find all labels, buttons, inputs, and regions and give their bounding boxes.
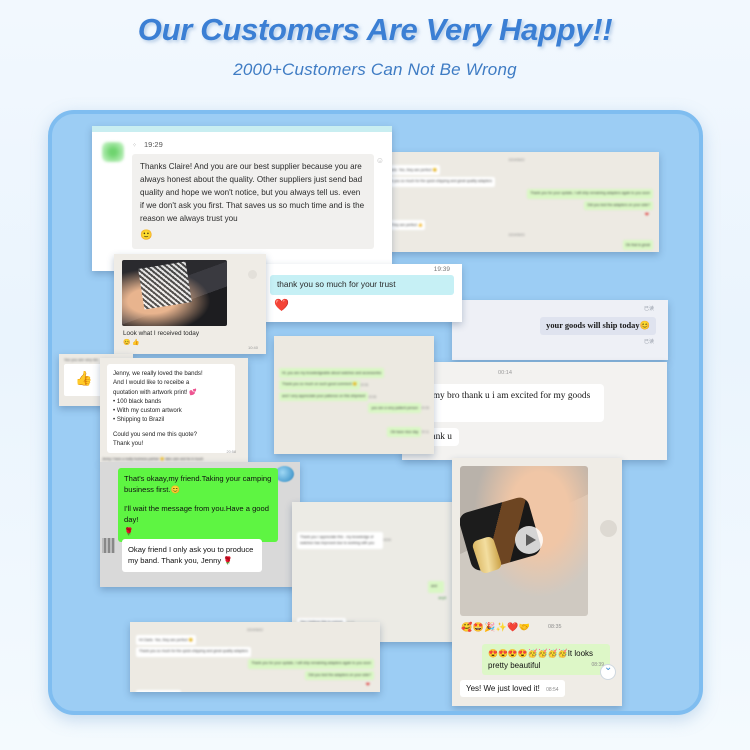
timestamp: 19:39	[434, 266, 450, 273]
page-title: Our Customers Are Very Happy!!	[0, 12, 750, 48]
blurred-name-placeholder: ⁘	[132, 142, 137, 149]
chat-line: Thank you for your update, I will ship r…	[527, 189, 653, 199]
testimonial-text: Thanks Claire! And you are our best supp…	[140, 162, 364, 223]
thumbs-up-label: Yes you are very kin	[64, 358, 98, 362]
beautiful-text: 😍😍😍😍🥳🥳🥳🥳It looks pretty beautiful	[488, 649, 593, 670]
rose-emoji-icon: 🌹	[124, 527, 133, 536]
quotation-bubble: Jenny, we really loved the bands! And I …	[107, 364, 235, 453]
chat-line: you are a very patient person	[368, 403, 421, 413]
scroll-down-chevron-icon[interactable]	[600, 664, 616, 680]
photo-caption: Look what I received today	[123, 330, 199, 337]
chat-line: Thank you so much for the quick shipping…	[380, 177, 495, 187]
forward-arrow-icon[interactable]	[600, 520, 617, 537]
quotation-line: • With my custom artwork	[113, 406, 229, 415]
side-label: anyti	[438, 595, 446, 602]
chat-line: and I very appreciate your patience on t…	[279, 392, 368, 402]
rose-emoji-icon: 🌹	[223, 556, 232, 565]
date-divider: 2024/06/02	[136, 627, 374, 633]
timestamp: 20:06	[360, 382, 368, 388]
photo-received-screenshot[interactable]: Look what I received today 😊 👍 10:40	[114, 254, 266, 354]
thumbs-up-icon: 👍	[75, 370, 92, 387]
blurred-chat-screenshot-bottom-left[interactable]: 2024/06/02 Hi Clarie. Yes, they are perf…	[130, 622, 380, 692]
blurred-chat-screenshot-middle-bottom[interactable]: Thank you I appreciate this - my knowled…	[292, 502, 467, 642]
quotation-line: Jenny, we really loved the bands!	[113, 369, 229, 378]
loved-it-bubble: Yes! We just loved it! 08:54	[460, 680, 565, 697]
emoji-reaction-icon[interactable]	[248, 270, 257, 279]
quotation-line: And I would like to receibe a	[113, 378, 229, 387]
heart-icon: ❤	[366, 682, 370, 688]
camping-reply-bubble: Okay friend I only ask you to produce my…	[122, 539, 262, 572]
product-photo-icon[interactable]	[122, 260, 227, 326]
quotation-footer: Jenny I have a really business partner 😊…	[102, 457, 203, 461]
timestamp: 08:54	[546, 687, 559, 693]
chat-line: Did you test the adapters on your side?	[305, 671, 374, 681]
green-camping-screenshot[interactable]: That's okaay,my friend.Taking your campi…	[100, 462, 300, 587]
avatar	[102, 538, 115, 553]
chat-header-bar	[92, 126, 392, 132]
excited-goods-text: Hi my bro thank u i am excited for my go…	[421, 391, 590, 401]
chat-line: Thank you so much for the quick shipping…	[136, 647, 251, 657]
chat-line: Ok that is great	[623, 240, 653, 250]
photo-reactions: 😊 👍	[123, 339, 140, 346]
camping-reply-text: Okay friend I only ask you to produce my…	[128, 545, 253, 565]
chat-line: Ok have nice day	[387, 427, 421, 437]
camping-line-1: That's okaay,my friend.Taking your campi…	[124, 474, 271, 494]
quotation-line: Thank you!	[113, 439, 229, 448]
chat-line: Hi Clarie. Yes, they are perfect 😊	[136, 635, 196, 645]
timestamp: 08:35	[548, 624, 562, 630]
timestamp: 19:29	[144, 140, 163, 149]
timestamp: 18:54	[383, 537, 391, 543]
chat-line: Thank you I appreciate this - my knowled…	[297, 532, 383, 549]
ship-today-bubble: your goods will ship today😊	[540, 317, 656, 335]
date-divider: 2024/06/02	[380, 157, 653, 163]
testimonial-board: 2024/06/02 Hi Clarie. Yes, they are perf…	[48, 110, 703, 715]
play-button-icon[interactable]	[515, 526, 543, 554]
timestamp: 10:40	[248, 345, 258, 350]
trust-bubble-screenshot[interactable]: 19:39 thank you so much for your trust ❤…	[252, 264, 462, 322]
loved-it-text: Yes! We just loved it!	[466, 684, 540, 693]
timestamp: 20:11	[421, 429, 429, 435]
excited-goods-bubble: Hi my bro thank u i am excited for my go…	[414, 384, 604, 422]
side-label: and	[428, 581, 444, 593]
testimonial-bubble: Thanks Claire! And you are our best supp…	[132, 154, 374, 249]
ship-today-text: your goods will ship today	[546, 321, 639, 330]
green-avatar-icon	[102, 142, 124, 162]
chat-line: Yes! They are perfect 👍	[136, 690, 181, 692]
page-subtitle: 2000+Customers Can Not Be Wrong	[0, 60, 750, 80]
heart-icon: ❤	[645, 212, 649, 218]
beautiful-green-bubble: 😍😍😍😍🥳🥳🥳🥳It looks pretty beautiful 08:39	[482, 644, 610, 675]
video-reactions: 🥰🤩🎉✨❤️🤝	[461, 622, 530, 633]
chat-line: Thank you for your update, I will ship r…	[248, 659, 374, 669]
timestamp: 20:06	[368, 394, 376, 400]
blurred-chat-screenshot-top-right[interactable]: 2024/06/02 Hi Clarie. Yes, they are perf…	[374, 152, 659, 252]
smile-emoji-icon: 🙂	[140, 228, 366, 244]
main-testimonial-screenshot[interactable]: ⁘ 19:29 Thanks Claire! And you are our b…	[92, 126, 392, 271]
blush-emoji-icon: 😊	[170, 485, 179, 494]
quotation-request-screenshot[interactable]: Jenny, we really loved the bands! And I …	[100, 358, 248, 462]
chat-line: Hi, you are my knowledgeable about watch…	[279, 368, 384, 378]
excited-goods-screenshot[interactable]: 00:14 Hi my bro thank u i am excited for…	[402, 362, 667, 460]
chat-line: Thank you so much on such good comment 😊	[279, 380, 360, 390]
read-status-bottom: 已读	[644, 338, 654, 345]
date-divider-2: 2024/06/03	[380, 232, 653, 238]
timestamp: 20:58	[226, 450, 236, 454]
read-status-top: 已读	[644, 305, 654, 312]
heart-icon: ❤️	[274, 298, 289, 312]
watch-video-screenshot[interactable]: 🥰🤩🎉✨❤️🤝 08:35 😍😍😍😍🥳🥳🥳🥳It looks pretty be…	[452, 458, 622, 706]
smile-emoji-icon: 😊	[640, 321, 650, 330]
chat-line: Did you test the adapters on your side?	[584, 201, 653, 211]
timestamp: 00:14	[498, 370, 512, 376]
quotation-line: • Shipping to Brazil	[113, 415, 229, 424]
watch-video-thumbnail[interactable]	[460, 466, 588, 616]
quotation-line: Could you send me this quote?	[113, 430, 229, 439]
trust-bubble: thank you so much for your trust	[270, 275, 454, 295]
quotation-line: quotation with artwork print! 💕	[113, 388, 229, 397]
page-header: Our Customers Are Very Happy!! 2000+Cust…	[0, 0, 750, 80]
blurred-chat-screenshot-middle[interactable]: Hi, you are my knowledgeable about watch…	[274, 336, 434, 454]
camping-green-bubble: That's okaay,my friend.Taking your campi…	[118, 468, 278, 542]
ship-today-screenshot[interactable]: 已读 your goods will ship today😊 已读	[452, 300, 668, 360]
emoji-reaction-icon[interactable]: ☺	[376, 156, 384, 165]
timestamp: 20:06	[421, 405, 429, 411]
quotation-line: • 100 black bands	[113, 397, 229, 406]
camping-line-2: I'll wait the message from you.Have a go…	[124, 503, 272, 526]
